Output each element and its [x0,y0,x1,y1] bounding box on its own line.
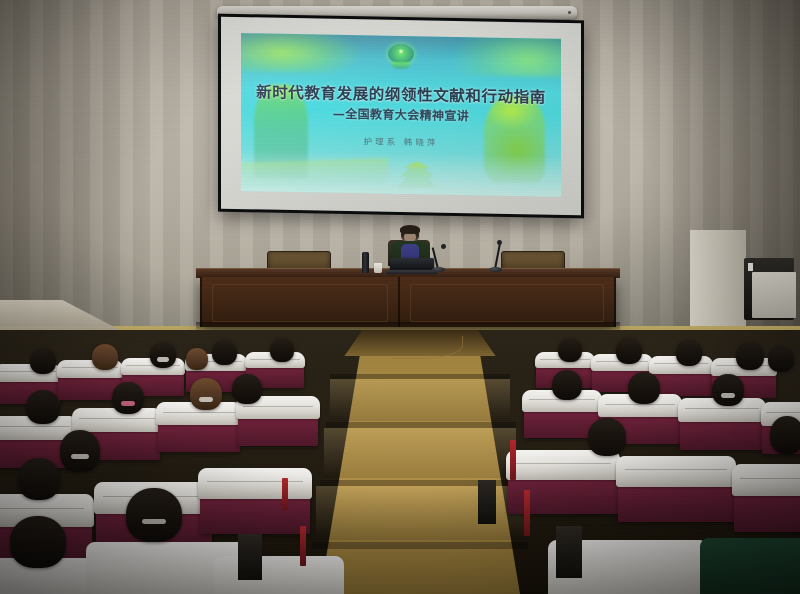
hair-tie-icon [71,454,89,459]
stair-tread-2 [324,428,516,478]
audience-head [270,338,294,362]
seat-pedestal [478,480,496,524]
seat [158,408,240,452]
audience-shoulders [214,556,344,594]
seat-headrest-cover [198,468,312,499]
microphone-base-right [489,267,502,272]
audience-area [0,330,800,594]
audience-head [628,372,660,404]
hair-tie-icon [199,397,213,402]
hair-tie-icon [121,401,135,406]
audience-head [92,344,118,370]
emblem-base [392,62,410,69]
desk-panel-right [410,284,604,322]
av-cabinet-panel [752,272,796,318]
audience-head [616,338,642,364]
thermos-bottle [362,252,369,273]
audience-head [150,342,176,368]
seat-frame-post [300,526,306,566]
desk-seam-center [398,277,400,327]
desk-seam-left [200,277,202,327]
stair-riser-4 [312,542,528,549]
audience-head [736,342,764,370]
audience-head-foreground [126,488,182,542]
seat-headrest-cover [616,456,737,487]
seat-pedestal [238,534,262,580]
hair-tie-icon [157,357,168,362]
hair-tie-icon [142,519,167,524]
audience-head [190,378,222,410]
seat-pedestal [556,526,582,578]
audience-head [552,370,582,400]
audience-head [558,338,582,362]
slide-bottom-haze [241,150,561,197]
glasses-icon [404,233,416,237]
audience-head [26,390,60,424]
laptop-base [386,270,438,274]
seat-frame-post [510,440,516,480]
microphone-head-center [441,244,446,249]
hair-tie-icon [721,393,735,398]
seat [734,470,800,532]
slide-glow-right [452,33,561,77]
seat [680,404,764,450]
national-emblem-icon [386,42,416,73]
screen-housing-knob [568,11,571,14]
audience-head [60,430,100,472]
wall-left-shadow [0,0,150,330]
wall-curtain [690,230,746,326]
seat-frame-post [282,478,288,510]
slide-glow-left [241,33,363,73]
presentation-slide: 新时代教育发展的纲领性文献和行动指南 —全国教育大会精神宣讲 护理系 韩晓萍 [241,33,561,197]
audience-head-foreground [10,516,66,568]
projection-screen: 新时代教育发展的纲领性文献和行动指南 —全国教育大会精神宣讲 护理系 韩晓萍 [218,14,584,219]
audience-head [112,382,144,414]
seat [200,474,310,534]
seat-frame-post [524,490,530,536]
audience-head [18,458,60,500]
audience-head [712,374,744,406]
audience-head [232,374,262,404]
audience-head [30,348,56,374]
audience-head [676,340,702,366]
desk-panel-left [212,284,388,322]
microphone-head-right [497,240,502,245]
drinking-cup [374,263,382,273]
seat [238,402,318,446]
screen-mat: 新时代教育发展的纲领性文献和行动指南 —全国教育大会精神宣讲 护理系 韩晓萍 [221,17,581,216]
stair-tread-1 [330,379,510,421]
seat [618,462,734,522]
av-cabinet-slot [748,263,753,271]
desk-seam-right [614,277,616,327]
lecture-hall-photo: 新时代教育发展的纲领性文献和行动指南 —全国教育大会精神宣讲 护理系 韩晓萍 [0,0,800,594]
seat-headrest-cover [732,464,800,496]
audience-head [588,418,626,456]
audience-head [186,348,208,370]
audience-shoulders [700,538,800,594]
audience-head [768,346,794,372]
audience-head [770,416,800,454]
audience-head [212,340,237,365]
microphone-base-center [432,267,445,272]
